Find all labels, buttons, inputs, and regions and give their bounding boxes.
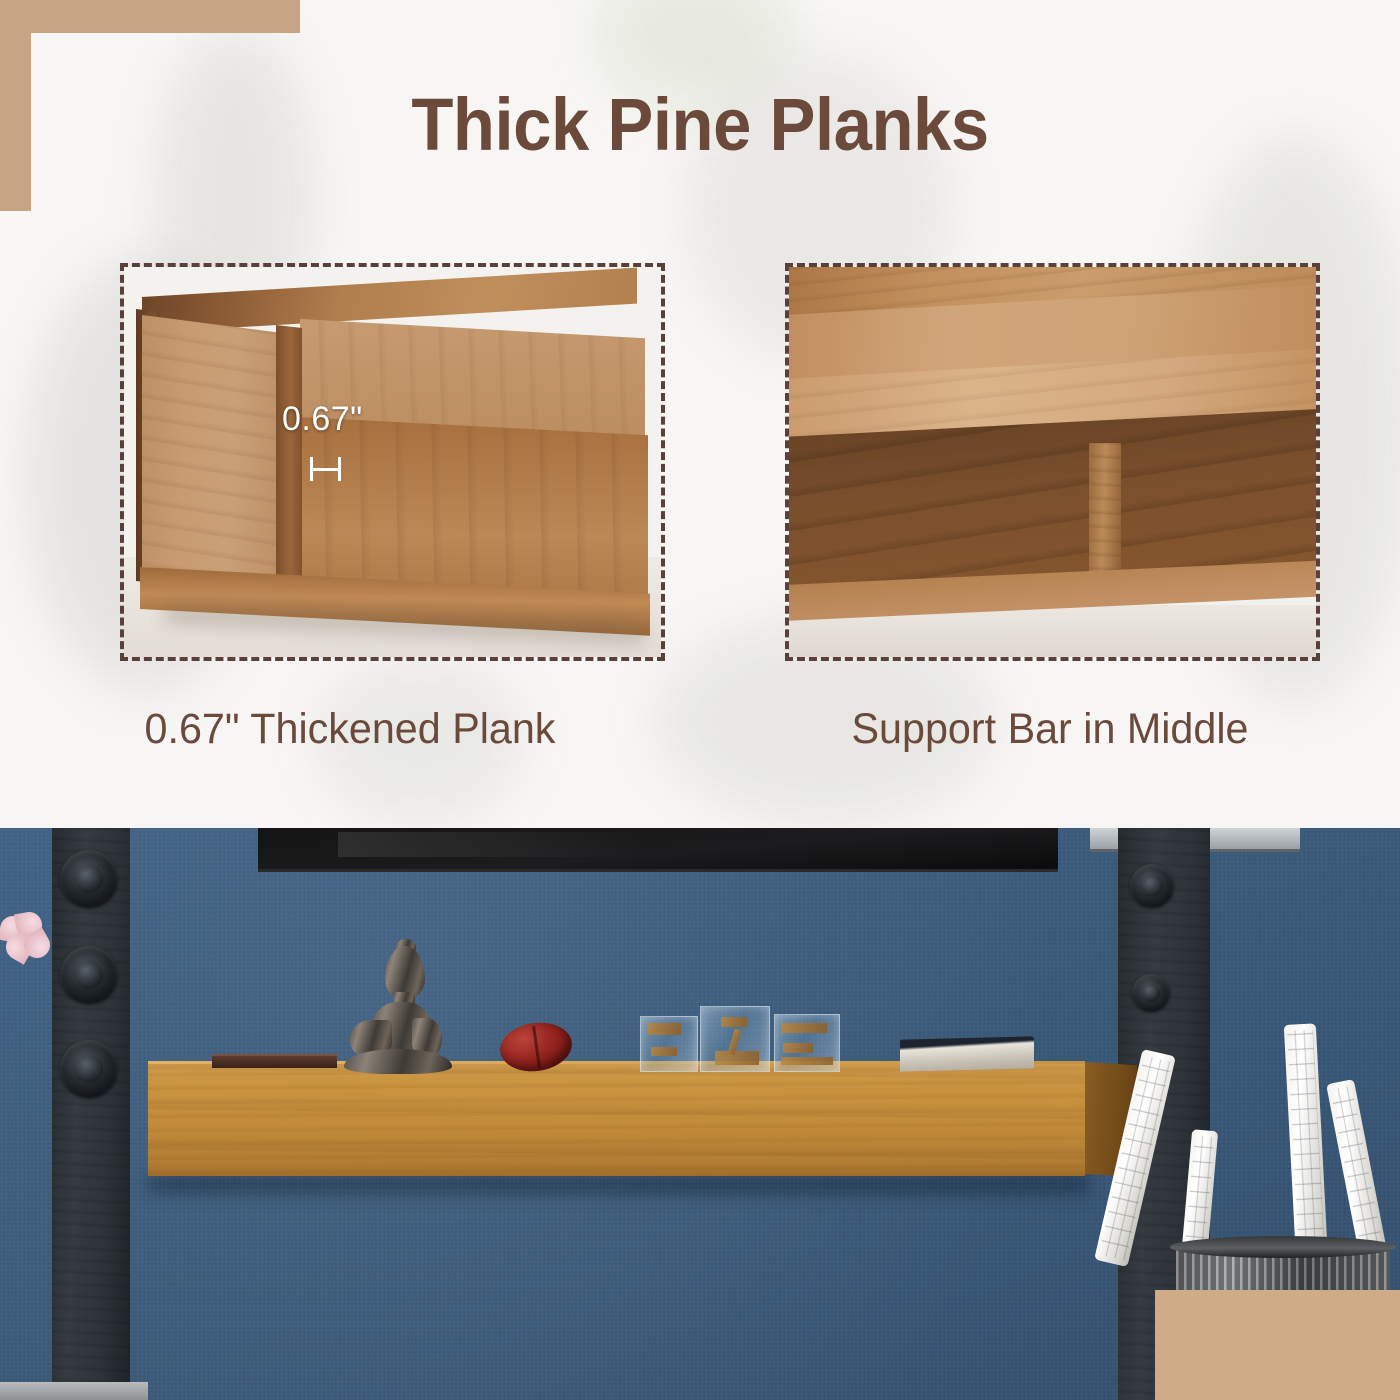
speaker-driver-icon: [60, 850, 118, 908]
corner-bracket-horizontal: [0, 0, 300, 33]
plank-thickness-photo: 0.67": [124, 267, 661, 657]
page-title: Thick Pine Planks: [49, 82, 1351, 167]
buddha-statue: [338, 946, 456, 1072]
dimension-label: 0.67": [282, 400, 363, 439]
plank-left-face: [142, 315, 290, 599]
shelf-drop-shadow: [148, 1174, 1088, 1194]
cherry-blossom: [0, 912, 62, 966]
feature-caption-thickened-plank: 0.67" Thickened Plank: [14, 705, 686, 754]
speaker-driver-icon: [60, 946, 118, 1004]
shelf-front-face: [148, 1064, 1085, 1176]
book-stack-right: [900, 1036, 1034, 1071]
corner-block: [1155, 1290, 1400, 1400]
glass-display-block: [640, 1016, 698, 1072]
speaker-driver-icon: [1132, 974, 1170, 1012]
corner-bracket-vertical: [0, 0, 31, 211]
wire-basket-rim: [1170, 1236, 1396, 1258]
floating-wood-shelf: [148, 1064, 1085, 1176]
left-speaker-tower: [52, 828, 130, 1400]
tv-panel: [258, 828, 1058, 872]
book-stack-left: [212, 1054, 337, 1068]
feature-card-thickened-plank: 0.67": [120, 263, 665, 661]
feature-card-support-bar: [785, 263, 1320, 661]
speaker-driver-icon: [60, 1040, 118, 1098]
speaker-driver-icon: [1130, 864, 1174, 908]
dimension-marker-icon: [310, 457, 341, 481]
support-bar-photo: [789, 267, 1316, 657]
glass-display-block: [700, 1006, 770, 1072]
plank-thickness-strip: [276, 325, 302, 590]
floor-strip: [0, 1382, 148, 1400]
feature-panel: Thick Pine Planks 0.67": [0, 0, 1400, 828]
glass-display-block: [774, 1014, 840, 1072]
feature-caption-support-bar: Support Bar in Middle: [714, 705, 1386, 754]
